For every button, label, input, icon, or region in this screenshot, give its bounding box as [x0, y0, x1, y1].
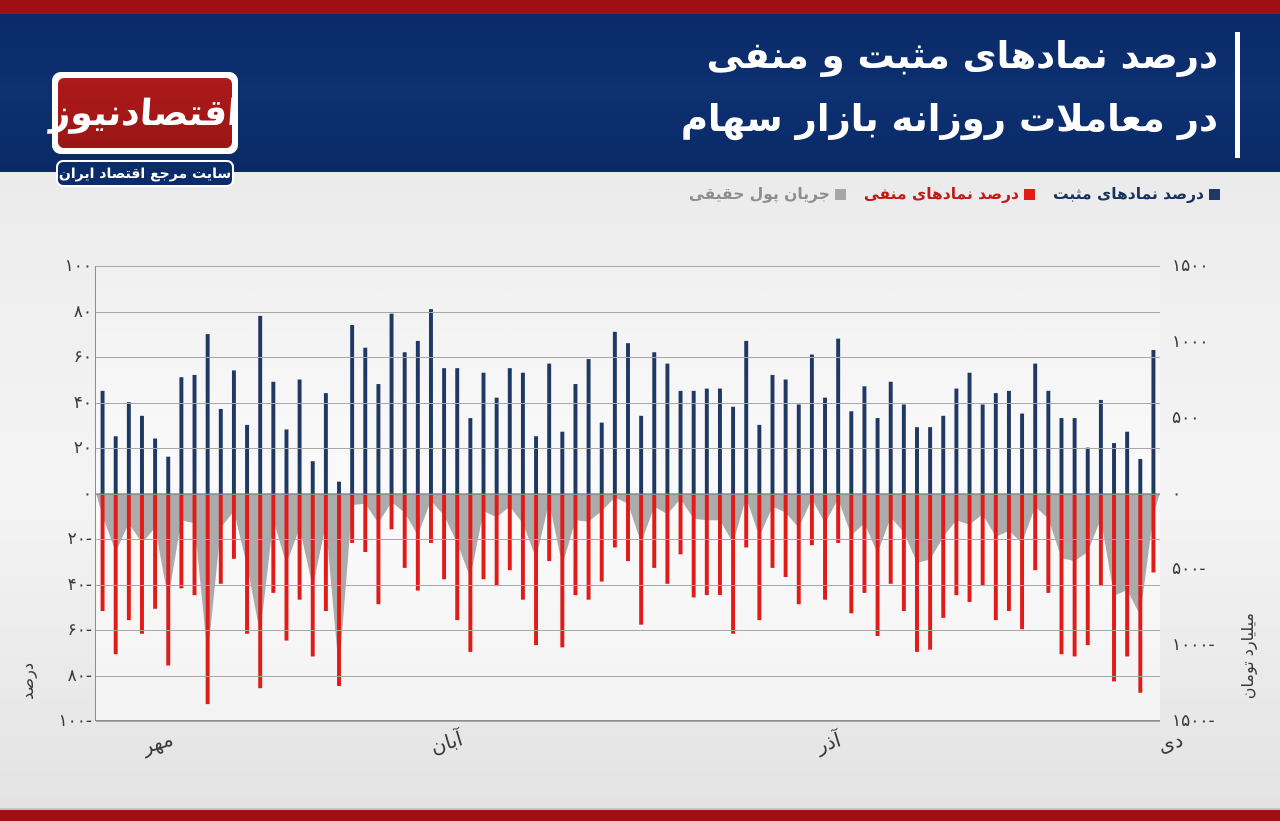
bar	[1138, 459, 1142, 493]
bar	[1151, 350, 1155, 493]
bar	[968, 373, 972, 493]
bar	[1112, 493, 1116, 681]
y-right-tick-1500: ۱۵۰۰	[1172, 256, 1262, 276]
bar	[258, 316, 262, 493]
bar	[468, 493, 472, 652]
bar	[140, 416, 144, 493]
bar	[285, 429, 289, 493]
bar	[153, 493, 157, 609]
bar	[193, 375, 197, 493]
bar	[298, 380, 302, 494]
y-left-tick--100: -۱۰۰	[22, 711, 92, 731]
bar	[587, 359, 591, 493]
legend-item-money-flow[interactable]: جریان پول حقیقی	[689, 185, 846, 203]
legend-label-negative: درصد نمادهای منفی	[864, 185, 1019, 203]
bar	[705, 389, 709, 493]
bar	[626, 493, 630, 561]
bar	[718, 389, 722, 493]
bar	[652, 352, 656, 493]
bar	[311, 461, 315, 493]
brand-logo[interactable]: اقتصادنیوز	[52, 72, 238, 154]
bar	[166, 457, 170, 493]
legend-label-money-flow: جریان پول حقیقی	[689, 185, 830, 203]
bar	[784, 493, 788, 577]
bar	[442, 493, 446, 579]
bar	[771, 375, 775, 493]
bar	[271, 493, 275, 593]
bar	[876, 493, 880, 636]
y-axis-left-title: درصد	[18, 663, 37, 700]
bar	[954, 389, 958, 493]
bar	[797, 493, 801, 604]
x-tick-آبان: آبان	[428, 726, 466, 758]
gridline--60	[96, 630, 1160, 631]
zero-line	[96, 494, 1160, 496]
bar	[468, 418, 472, 493]
bar	[1073, 493, 1077, 656]
bar	[219, 409, 223, 493]
bar	[1112, 443, 1116, 493]
bar	[731, 493, 735, 634]
bar	[179, 493, 183, 588]
y-left-tick--60: -۶۰	[22, 620, 92, 640]
bar	[193, 493, 197, 595]
bar	[771, 493, 775, 568]
bar	[1046, 391, 1050, 493]
bar	[968, 493, 972, 602]
bar	[731, 407, 735, 493]
bar	[311, 493, 315, 656]
bar	[1125, 432, 1129, 493]
bar	[363, 493, 367, 552]
bar	[810, 355, 814, 493]
bar	[1151, 493, 1155, 572]
bar	[573, 384, 577, 493]
bar	[626, 343, 630, 493]
bar	[613, 332, 617, 493]
y-left-tick-0: ۰	[22, 484, 92, 504]
y-left-tick-20: ۲۰	[22, 438, 92, 458]
gridline-80	[96, 312, 1160, 313]
bar	[140, 493, 144, 634]
bar	[101, 391, 105, 493]
legend-item-negative[interactable]: درصد نمادهای منفی	[864, 185, 1035, 203]
bar	[101, 493, 105, 611]
bar	[403, 352, 407, 493]
bar	[915, 427, 919, 493]
bar	[376, 493, 380, 604]
bar	[836, 339, 840, 493]
gridline--20	[96, 539, 1160, 540]
y-right-tick-1000: ۱۰۰۰	[1172, 332, 1262, 352]
bar	[324, 393, 328, 493]
y-left-tick-80: ۸۰	[22, 302, 92, 322]
bar	[849, 411, 853, 493]
bar	[1099, 400, 1103, 493]
gridline--80	[96, 676, 1160, 677]
bar	[508, 493, 512, 570]
bar	[1086, 448, 1090, 493]
bar	[127, 493, 131, 620]
bar	[245, 425, 249, 493]
bar	[258, 493, 262, 688]
bar	[232, 370, 236, 493]
bar	[823, 398, 827, 493]
bar	[521, 373, 525, 493]
bar	[1020, 414, 1024, 493]
y-right-tick--1500: -۱۵۰۰	[1172, 711, 1262, 731]
bar	[324, 493, 328, 611]
gridline-100	[96, 266, 1160, 267]
bar	[902, 493, 906, 611]
y-left-tick-100: ۱۰۰	[22, 256, 92, 276]
bar	[179, 377, 183, 493]
bar	[862, 493, 866, 593]
gridline-60	[96, 357, 1160, 358]
bar	[692, 391, 696, 493]
logo-wordmark: اقتصادنیوز	[49, 93, 241, 134]
bar	[889, 382, 893, 493]
legend-swatch-positive	[1209, 189, 1220, 200]
bar	[1125, 493, 1129, 656]
bar	[679, 493, 683, 554]
bar	[482, 493, 486, 579]
header-title-block: درصد نمادهای مثبت و منفی در معاملات روزا…	[681, 24, 1240, 150]
bar	[994, 493, 998, 620]
legend-label-positive: درصد نمادهای مثبت	[1053, 185, 1204, 203]
bar	[600, 493, 604, 582]
bar	[757, 493, 761, 620]
bar	[679, 391, 683, 493]
chart-legend: درصد نمادهای مثبت درصد نمادهای منفی جریا…	[689, 185, 1220, 203]
bar	[928, 427, 932, 493]
bar	[166, 493, 170, 666]
legend-swatch-money-flow	[835, 189, 846, 200]
bar	[534, 493, 538, 645]
bar	[600, 423, 604, 493]
bar	[810, 493, 814, 545]
gridline--100	[96, 721, 1160, 722]
page-root: درصد نمادهای مثبت و منفی در معاملات روزا…	[0, 0, 1280, 821]
bar	[153, 439, 157, 493]
bar	[1086, 493, 1090, 645]
bar	[482, 373, 486, 493]
legend-item-positive[interactable]: درصد نمادهای مثبت	[1053, 185, 1220, 203]
bar	[416, 341, 420, 493]
bar	[836, 493, 840, 543]
bar	[639, 416, 643, 493]
y-left-tick--40: -۴۰	[22, 575, 92, 595]
bar	[429, 309, 433, 493]
logo-red-box: اقتصادنیوز	[58, 78, 232, 148]
y-left-tick--20: -۲۰	[22, 529, 92, 549]
bar	[206, 493, 210, 704]
bar	[337, 493, 341, 686]
bar	[245, 493, 249, 634]
y-left-tick-60: ۶۰	[22, 347, 92, 367]
bar	[1033, 364, 1037, 493]
bar	[1138, 493, 1142, 693]
chart-plot-area[interactable]	[95, 266, 1160, 721]
bar	[1007, 493, 1011, 611]
y-axis-right-title: میلیارد تومان	[1238, 613, 1257, 699]
bar	[665, 364, 669, 493]
bar	[350, 493, 354, 543]
bar	[573, 493, 577, 595]
positive-symbols-bars	[101, 309, 1156, 493]
bar	[954, 493, 958, 595]
bar	[849, 493, 853, 613]
bar	[994, 393, 998, 493]
bar	[941, 493, 945, 618]
bar	[1033, 493, 1037, 570]
bar	[652, 493, 656, 568]
bar	[429, 493, 433, 543]
bar	[455, 493, 459, 620]
x-tick-آذر: آذر	[813, 727, 843, 757]
bottom-red-strip	[0, 808, 1280, 821]
bar	[1007, 391, 1011, 493]
bar	[403, 493, 407, 568]
bar	[442, 368, 446, 493]
bar	[941, 416, 945, 493]
x-tick-مهر: مهر	[139, 726, 176, 758]
y-right-tick-0: ۰	[1172, 484, 1262, 504]
x-tick-دی: دی	[1155, 727, 1186, 757]
top-red-strip	[0, 0, 1280, 14]
gridline--40	[96, 585, 1160, 586]
y-right-tick-500: ۵۰۰	[1172, 408, 1262, 428]
logo-subtitle-pill: سایت مرجع اقتصاد ایران	[56, 160, 234, 187]
bar	[337, 482, 341, 493]
bar	[560, 432, 564, 493]
gridline-20	[96, 448, 1160, 449]
bar	[271, 382, 275, 493]
bar	[363, 348, 367, 493]
bar	[1046, 493, 1050, 593]
bar	[547, 364, 551, 493]
bar	[1020, 493, 1024, 629]
gridline-40	[96, 403, 1160, 404]
page-title-line1: درصد نمادهای مثبت و منفی	[681, 24, 1218, 87]
bar	[705, 493, 709, 595]
bar	[757, 425, 761, 493]
bar	[508, 368, 512, 493]
bar	[744, 341, 748, 493]
y-right-tick--500: -۵۰۰	[1172, 559, 1262, 579]
bar	[547, 493, 551, 561]
bar	[495, 398, 499, 493]
bar	[928, 493, 932, 650]
legend-swatch-negative	[1024, 189, 1035, 200]
bar	[416, 493, 420, 591]
bar	[455, 368, 459, 493]
bar	[639, 493, 643, 625]
bar	[285, 493, 289, 641]
bar	[1060, 418, 1064, 493]
bar	[390, 493, 394, 529]
bar	[560, 493, 564, 647]
bar	[692, 493, 696, 597]
y-left-tick-40: ۴۰	[22, 393, 92, 413]
bar	[350, 325, 354, 493]
bar	[1073, 418, 1077, 493]
bar	[718, 493, 722, 595]
bar	[534, 436, 538, 493]
bar	[376, 384, 380, 493]
page-title-line2: در معاملات روزانه بازار سهام	[681, 87, 1218, 150]
bar	[114, 436, 118, 493]
negative-symbols-bars	[101, 493, 1156, 704]
title-divider-rule	[1235, 32, 1240, 158]
bar	[232, 493, 236, 559]
bar	[784, 380, 788, 494]
chart-container: ۱۰۰۸۰۶۰۴۰۲۰۰-۲۰-۴۰-۶۰-۸۰-۱۰۰ ۱۵۰۰۱۰۰۰۵۰۰…	[0, 215, 1280, 810]
bar	[915, 493, 919, 652]
bar	[876, 418, 880, 493]
